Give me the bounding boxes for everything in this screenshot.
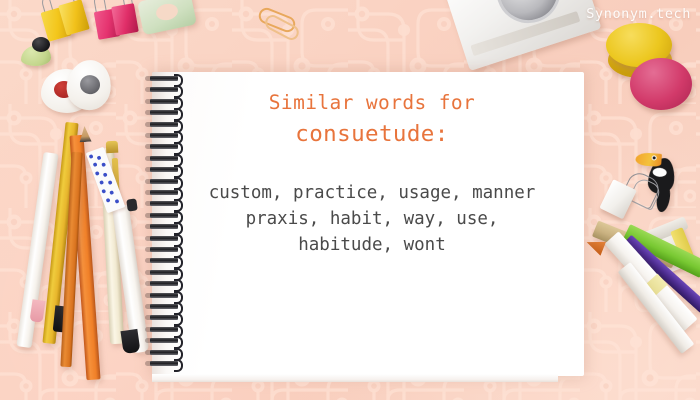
bird-figurine-green bbox=[19, 37, 53, 67]
title-line-2-headword: consuetude: bbox=[176, 118, 568, 150]
site-watermark: Synonym.tech bbox=[586, 6, 691, 22]
screenshot-canvas: Similar words for consuetude: custom, pr… bbox=[0, 0, 700, 400]
eraser-white-gray bbox=[64, 57, 115, 113]
spiral-ring bbox=[144, 350, 186, 355]
title-line-1: Similar words for bbox=[176, 88, 568, 118]
page-text-block: Similar words for consuetude: custom, pr… bbox=[176, 88, 568, 258]
marker-white-tip bbox=[120, 329, 140, 354]
spiral-ring bbox=[144, 281, 186, 286]
spiral-ring bbox=[144, 76, 186, 81]
spiral-ring bbox=[144, 293, 186, 298]
page-bottom-edge bbox=[152, 374, 558, 382]
spiral-ring bbox=[144, 258, 186, 263]
spiral-ring bbox=[144, 338, 186, 343]
spiral-ring-cap bbox=[174, 359, 183, 372]
spiral-ring bbox=[144, 327, 186, 332]
synonyms-list: custom, practice, usage, manner praxis, … bbox=[176, 180, 568, 258]
pen-cream-gold-top bbox=[106, 141, 119, 154]
marker-white-top bbox=[126, 198, 138, 211]
macaron-pink bbox=[630, 58, 692, 110]
spiral-ring bbox=[144, 304, 186, 309]
spiral-ring bbox=[144, 361, 186, 366]
spiral-ring bbox=[144, 270, 186, 275]
spiral-ring bbox=[144, 315, 186, 320]
